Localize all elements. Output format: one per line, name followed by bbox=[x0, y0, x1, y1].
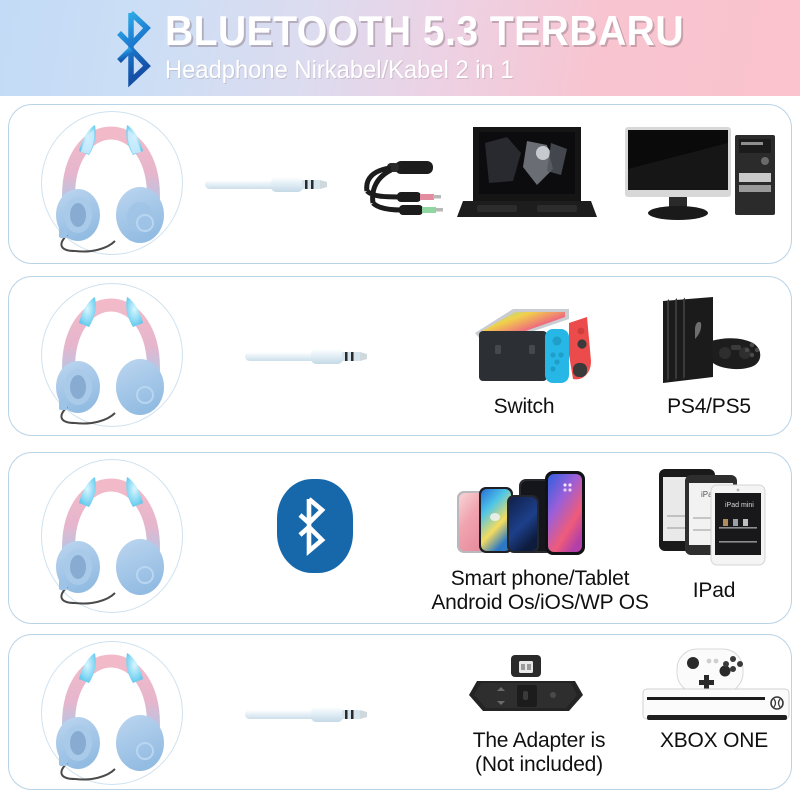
label-smartphone: Smart phone/Tablet Android Os/iOS/WP OS bbox=[415, 567, 665, 615]
compatibility-card-consoles: Switch PS4/PS5 bbox=[8, 276, 792, 436]
aux-cable-3.5mm bbox=[245, 697, 381, 733]
smartphones-stack bbox=[449, 465, 629, 569]
audio-jack-green bbox=[422, 207, 436, 213]
compatibility-card-bluetooth: Smart phone/Tablet Android Os/iOS/WP OS … bbox=[8, 452, 792, 624]
bluetooth-icon bbox=[277, 479, 353, 573]
desktop-monitor-and-tower bbox=[619, 121, 779, 227]
ipad-stack: iPad iPad mini bbox=[653, 465, 777, 569]
header-banner: BLUETOOTH 5.3 TERBARU Headphone Nirkabel… bbox=[0, 0, 800, 96]
mic-jack-pink bbox=[420, 194, 434, 200]
page-title: BLUETOOTH 5.3 TERBARU bbox=[165, 8, 742, 54]
compatibility-card-xbox: The Adapter is (Not included) XBOX ONE bbox=[8, 634, 792, 790]
xbox-stereo-adapter bbox=[465, 653, 591, 729]
label-xbox: XBOX ONE bbox=[639, 729, 789, 753]
label-adapter: The Adapter is (Not included) bbox=[449, 729, 629, 777]
label-switch: Switch bbox=[459, 395, 589, 419]
aux-cable-3.5mm bbox=[245, 339, 381, 375]
playstation-console bbox=[645, 293, 785, 393]
cat-ear-headphones bbox=[45, 461, 177, 611]
label-playstation: PS4/PS5 bbox=[639, 395, 779, 419]
headphone-zone bbox=[19, 635, 199, 789]
laptop-device bbox=[455, 123, 599, 225]
label-ipad: IPad bbox=[659, 579, 769, 603]
product-infographic: BLUETOOTH 5.3 TERBARU Headphone Nirkabel… bbox=[0, 0, 800, 800]
headphone-zone bbox=[19, 277, 199, 435]
headphone-zone bbox=[19, 105, 199, 263]
headphone-zone bbox=[19, 453, 199, 623]
xbox-one-console bbox=[637, 645, 793, 731]
header-text-block: BLUETOOTH 5.3 TERBARU Headphone Nirkabel… bbox=[165, 8, 785, 85]
aux-cable-3.5mm bbox=[205, 167, 341, 203]
cat-ear-headphones bbox=[45, 111, 177, 257]
y-splitter-adapter bbox=[357, 153, 465, 225]
bluetooth-icon bbox=[110, 7, 166, 91]
cat-ear-headphones bbox=[45, 639, 177, 785]
page-subtitle: Headphone Nirkabel/Kabel 2 in 1 bbox=[165, 55, 754, 85]
cat-ear-headphones bbox=[45, 283, 177, 429]
svg-text:iPad mini: iPad mini bbox=[725, 502, 754, 509]
nintendo-switch-console bbox=[457, 295, 597, 393]
compatibility-card-pc: PC/Laptop/Windows OS/MAC OS bbox=[8, 104, 792, 264]
